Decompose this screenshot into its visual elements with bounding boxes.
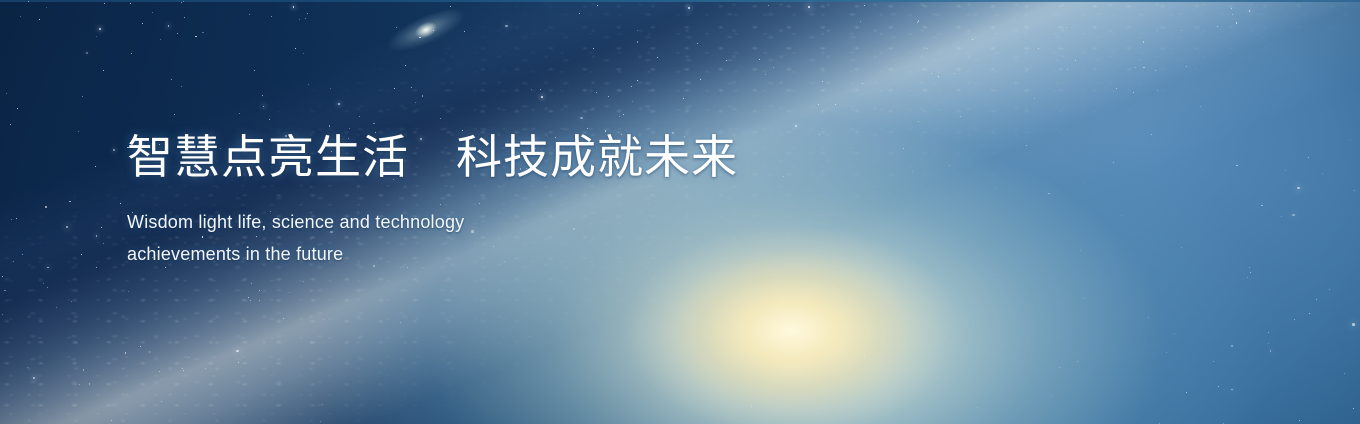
star <box>305 18 306 19</box>
star <box>917 22 918 23</box>
star <box>239 113 240 114</box>
star <box>323 319 324 320</box>
star <box>303 53 304 54</box>
star <box>78 131 79 132</box>
star <box>918 20 919 21</box>
star <box>1083 298 1084 299</box>
star <box>411 87 412 88</box>
hero-banner: 智慧点亮生活 科技成就未来 Wisdom light life, science… <box>0 0 1360 424</box>
star <box>262 95 263 96</box>
star <box>960 116 961 117</box>
star <box>623 114 624 115</box>
star <box>1066 27 1067 28</box>
star <box>1217 26 1218 27</box>
star <box>1236 22 1237 23</box>
star <box>120 203 121 204</box>
star <box>39 19 40 20</box>
star <box>912 171 913 172</box>
star <box>1026 145 1027 146</box>
star <box>43 283 44 284</box>
star <box>596 92 597 93</box>
star <box>440 118 441 119</box>
star <box>751 405 752 406</box>
star <box>11 219 12 220</box>
star <box>1121 215 1122 216</box>
star <box>195 36 196 37</box>
star <box>181 2 182 3</box>
star <box>28 1 29 2</box>
star <box>66 226 69 229</box>
star <box>637 80 638 81</box>
star <box>103 70 104 71</box>
star <box>103 243 104 244</box>
star <box>289 292 290 293</box>
star <box>738 405 739 406</box>
star <box>16 218 17 219</box>
star <box>1236 165 1237 166</box>
star <box>608 96 609 97</box>
star <box>1281 216 1282 217</box>
star <box>822 81 823 82</box>
star <box>657 57 658 58</box>
star <box>1048 193 1050 195</box>
star <box>131 53 132 54</box>
star <box>320 421 321 422</box>
star <box>271 16 272 17</box>
star <box>1297 187 1300 190</box>
star <box>152 12 153 13</box>
star <box>1186 66 1187 67</box>
star <box>330 88 331 89</box>
star <box>1250 272 1251 273</box>
star <box>13 261 14 262</box>
banner-text-block: 智慧点亮生活 科技成就未来 Wisdom light life, science… <box>127 128 887 270</box>
star <box>931 73 932 74</box>
star <box>1247 277 1248 278</box>
star <box>96 235 98 237</box>
star <box>1143 41 1144 42</box>
star <box>1270 350 1272 352</box>
star <box>236 350 239 353</box>
star <box>1232 14 1233 15</box>
star <box>183 1 184 2</box>
banner-subtitle-line-1: Wisdom light life, science and technolog… <box>127 206 887 238</box>
star <box>96 36 97 37</box>
star <box>299 19 300 20</box>
star <box>303 281 304 282</box>
star <box>293 6 295 8</box>
star <box>1344 373 1345 374</box>
star <box>862 83 863 84</box>
star <box>338 103 340 105</box>
star <box>81 254 82 255</box>
star <box>619 116 620 117</box>
star <box>83 369 84 370</box>
star <box>22 254 23 255</box>
star <box>99 28 101 30</box>
star <box>1174 333 1175 334</box>
star <box>373 123 374 124</box>
star <box>1316 299 1317 300</box>
star <box>248 297 249 298</box>
star <box>1218 386 1219 387</box>
star <box>283 318 284 319</box>
star <box>202 32 203 33</box>
star <box>1249 267 1250 268</box>
star <box>160 39 161 40</box>
star <box>205 368 206 369</box>
star <box>529 336 530 337</box>
star <box>1181 247 1182 248</box>
star <box>142 23 143 24</box>
star <box>1143 67 1144 68</box>
banner-subtitle-line-2: achievements in the future <box>127 238 887 270</box>
star <box>1249 10 1251 12</box>
star <box>1329 289 1330 290</box>
star <box>726 60 727 61</box>
star <box>632 101 633 102</box>
star <box>972 39 973 40</box>
star <box>259 300 260 301</box>
star <box>168 25 170 27</box>
star <box>1077 361 1078 362</box>
star <box>949 165 950 166</box>
star <box>808 6 811 9</box>
star <box>1051 395 1052 396</box>
star <box>795 125 797 127</box>
star <box>161 401 162 402</box>
star <box>56 307 57 308</box>
star <box>1292 214 1295 217</box>
star <box>1213 361 1214 362</box>
star <box>2 276 3 277</box>
star <box>45 206 46 207</box>
star <box>161 379 162 380</box>
star <box>1268 332 1269 333</box>
star <box>1322 173 1323 174</box>
star <box>1038 48 1039 49</box>
star <box>111 420 112 421</box>
star <box>400 322 401 323</box>
star <box>580 117 583 120</box>
star <box>1294 319 1295 320</box>
star <box>540 89 541 90</box>
star <box>1285 170 1286 171</box>
star <box>263 106 265 108</box>
star <box>33 377 35 379</box>
star <box>149 351 151 353</box>
star <box>1353 408 1354 409</box>
star <box>86 52 88 54</box>
star <box>140 346 141 347</box>
star <box>954 73 955 74</box>
star <box>1261 205 1262 206</box>
star <box>433 30 434 31</box>
star <box>17 108 18 109</box>
star <box>27 367 28 368</box>
star <box>71 301 72 302</box>
star <box>6 93 7 94</box>
star <box>818 104 819 105</box>
star <box>1113 162 1114 163</box>
star <box>1080 250 1081 251</box>
star <box>1231 8 1232 9</box>
star <box>1151 134 1152 135</box>
star <box>101 227 102 228</box>
star <box>182 368 183 369</box>
star <box>20 16 21 17</box>
star <box>877 334 878 335</box>
star <box>171 79 172 80</box>
star <box>174 114 175 115</box>
star <box>505 25 508 28</box>
star <box>688 7 690 9</box>
star <box>1186 392 1187 393</box>
star <box>269 119 270 120</box>
star <box>69 201 70 202</box>
star <box>181 86 182 87</box>
star <box>977 407 978 408</box>
star <box>188 357 189 358</box>
star <box>177 33 178 34</box>
star <box>765 74 766 75</box>
star <box>419 37 420 38</box>
star <box>531 89 532 90</box>
star <box>927 48 928 49</box>
star <box>1352 323 1355 326</box>
banner-headline: 智慧点亮生活 科技成就未来 <box>127 128 887 186</box>
star <box>1299 420 1300 421</box>
star <box>811 327 812 328</box>
star <box>835 104 836 105</box>
star <box>1135 67 1136 68</box>
star <box>737 368 738 369</box>
star <box>700 79 701 80</box>
star <box>82 96 83 97</box>
star <box>903 148 904 149</box>
star <box>2 314 3 315</box>
star <box>918 121 919 122</box>
star <box>1354 190 1355 191</box>
distant-galaxy-icon <box>367 0 485 77</box>
star <box>10 124 11 125</box>
star <box>593 48 594 49</box>
star <box>238 362 239 363</box>
star <box>96 267 97 268</box>
star <box>1067 69 1068 70</box>
star <box>1268 343 1269 344</box>
star <box>464 31 465 32</box>
star <box>697 43 698 44</box>
star <box>1075 60 1076 61</box>
star <box>1034 98 1035 99</box>
star <box>415 102 416 103</box>
star <box>1133 92 1134 93</box>
star <box>938 76 939 77</box>
star <box>1350 140 1351 141</box>
star <box>379 372 380 373</box>
star <box>597 5 598 6</box>
star <box>113 149 115 151</box>
star <box>249 14 250 15</box>
star <box>183 370 184 371</box>
star <box>1116 88 1117 89</box>
star <box>1181 30 1182 31</box>
star <box>768 5 769 6</box>
star <box>308 84 309 85</box>
star <box>251 283 252 284</box>
star <box>773 67 774 68</box>
star <box>1166 352 1167 353</box>
star <box>359 116 360 117</box>
star <box>396 27 397 28</box>
star <box>579 13 580 14</box>
star <box>683 98 684 99</box>
banner-subtitle: Wisdom light life, science and technolog… <box>127 206 887 270</box>
top-edge-hairline <box>0 0 1360 2</box>
star <box>949 343 951 345</box>
star <box>39 19 40 20</box>
star <box>394 88 395 89</box>
star <box>4 290 5 291</box>
star <box>541 96 543 98</box>
star <box>1083 182 1084 183</box>
star <box>637 41 638 42</box>
star <box>450 6 451 7</box>
star <box>46 7 47 8</box>
star <box>254 70 255 71</box>
star <box>864 355 865 356</box>
star <box>805 324 806 325</box>
star <box>159 371 160 372</box>
star <box>1159 423 1160 424</box>
star <box>1308 157 1309 158</box>
star <box>864 5 865 6</box>
star <box>637 30 638 31</box>
star <box>995 187 996 188</box>
star <box>128 291 129 292</box>
star <box>759 59 760 60</box>
star <box>1155 70 1156 71</box>
star <box>89 383 90 384</box>
star <box>125 352 126 353</box>
star <box>322 404 323 405</box>
star <box>1231 345 1233 347</box>
star <box>184 17 185 18</box>
star <box>405 65 406 66</box>
star <box>1059 367 1060 368</box>
star <box>329 125 330 126</box>
star <box>1231 389 1233 391</box>
star <box>307 13 308 14</box>
star <box>47 267 49 269</box>
star <box>47 287 48 288</box>
star <box>1200 106 1201 107</box>
star <box>422 95 423 96</box>
star <box>789 407 790 408</box>
star <box>993 274 994 275</box>
star <box>1309 313 1310 314</box>
star <box>130 3 131 4</box>
star <box>631 86 632 87</box>
star <box>79 384 80 385</box>
star <box>1148 317 1149 318</box>
star <box>860 21 861 22</box>
star <box>259 290 260 291</box>
star <box>95 166 96 167</box>
star <box>1157 90 1158 91</box>
star <box>295 48 296 49</box>
star <box>250 300 251 301</box>
star <box>104 3 105 4</box>
